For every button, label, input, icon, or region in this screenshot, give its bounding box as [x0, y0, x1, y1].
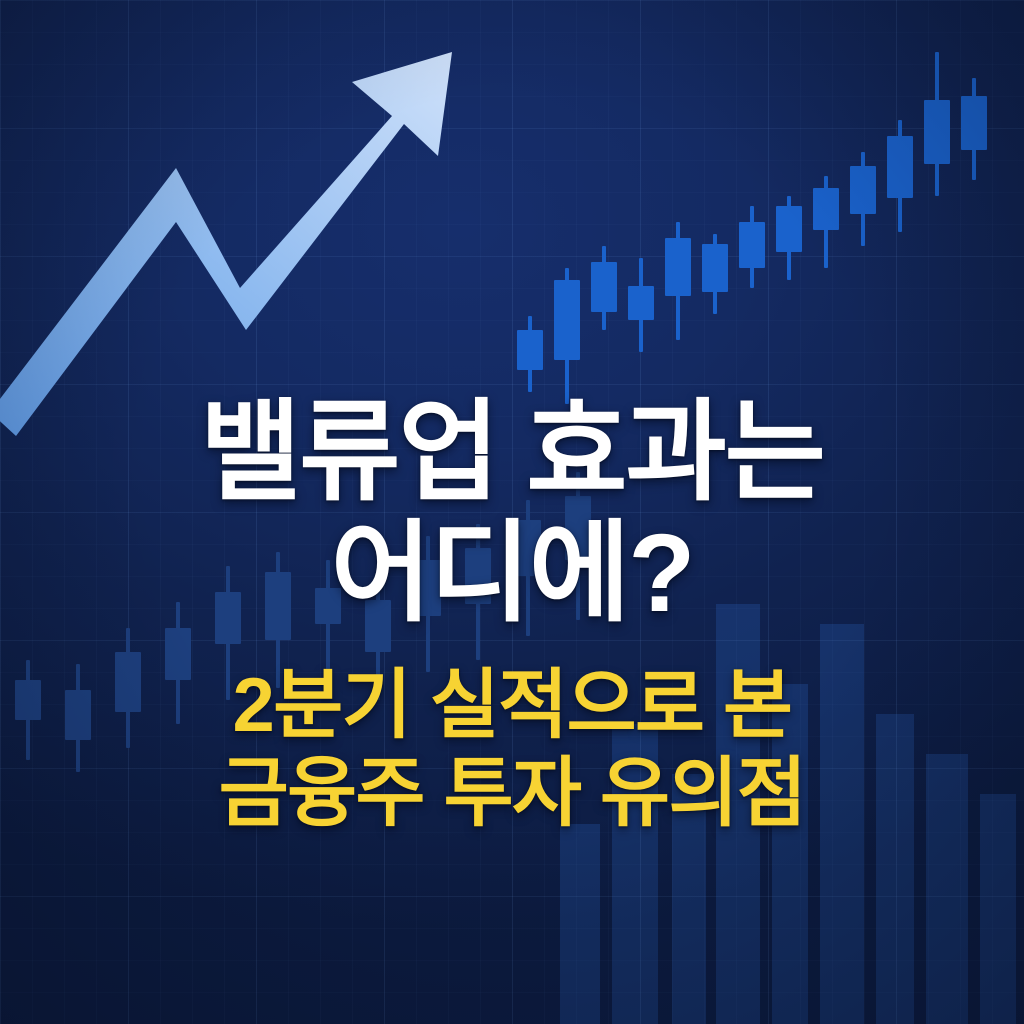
page-title: 밸류업 효과는 어디에?	[0, 392, 1024, 634]
headline-line-1: 밸류업 효과는	[200, 391, 824, 514]
page-subtitle: 2분기 실적으로 본 금융주 투자 유의점	[0, 662, 1024, 838]
headline-line-2: 어디에?	[40, 513, 984, 634]
poster-canvas: 밸류업 효과는 어디에? 2분기 실적으로 본 금융주 투자 유의점	[0, 0, 1024, 1024]
subhead-line-2: 금융주 투자 유의점	[40, 750, 984, 838]
poster-text-block: 밸류업 효과는 어디에? 2분기 실적으로 본 금융주 투자 유의점	[0, 392, 1024, 838]
subhead-line-1: 2분기 실적으로 본	[233, 663, 792, 748]
